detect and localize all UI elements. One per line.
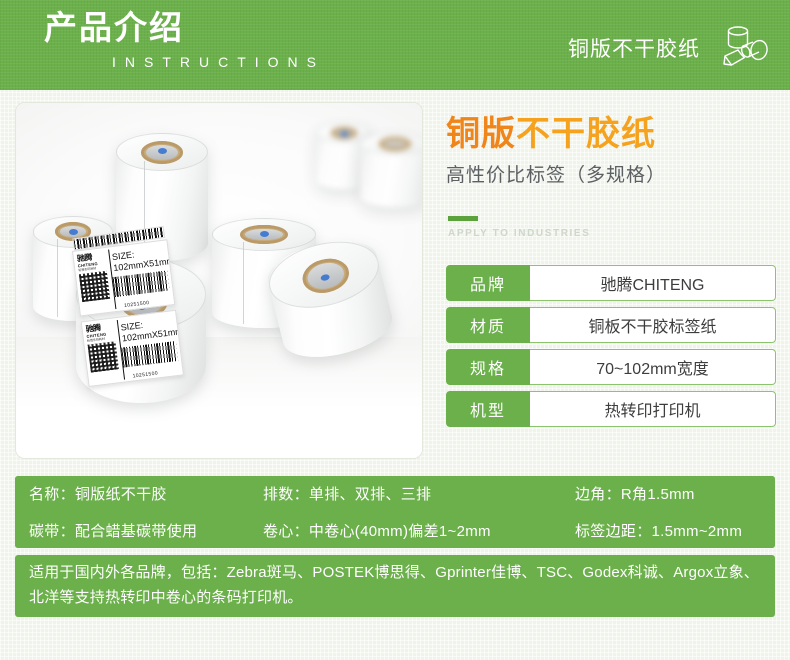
qr-code-icon — [79, 271, 110, 302]
label-sticker-strip: 驰腾 CHITENG 标签条码耗材 SIZE: 102mmX51mm 10251… — [72, 239, 185, 396]
info-cell-ribbon: 碳带：配合蜡基碳带使用 — [15, 513, 247, 548]
compatibility-note: 适用于国内外各品牌，包括：Zebra斑马、POSTEK博思得、Gprinter佳… — [15, 555, 775, 617]
spec-key: 规格 — [446, 349, 530, 385]
header-title-group: 产品介绍 INSTRUCTIONS — [44, 8, 325, 72]
spec-row: 规格 70~102mm宽度 — [446, 349, 776, 385]
barcode-icon — [113, 271, 170, 298]
label-rolls-icon — [712, 22, 772, 74]
spec-value: 驰腾CHITENG — [530, 265, 776, 301]
product-title: 铜版不干胶纸 — [446, 112, 776, 156]
spec-value: 铜板不干胶标签纸 — [530, 307, 776, 343]
header-right-group: 铜版不干胶纸 — [568, 22, 772, 74]
product-info-column: 铜版不干胶纸 高性价比标签（多规格） APPLY TO INDUSTRIES 品… — [446, 104, 776, 433]
header-product-label: 铜版不干胶纸 — [568, 33, 700, 63]
info-cell-corner: 边角：R角1.5mm — [561, 476, 775, 511]
product-subtitle: 高性价比标签（多规格） — [446, 162, 776, 190]
spec-key: 材质 — [446, 307, 530, 343]
barcode-icon — [121, 341, 178, 368]
spec-key: 品牌 — [446, 265, 530, 301]
spec-row: 材质 铜板不干胶标签纸 — [446, 307, 776, 343]
roll-back-right — [360, 133, 423, 207]
spec-key: 机型 — [446, 391, 530, 427]
page-title: 产品介绍 — [44, 8, 325, 48]
apply-to-industries-label: APPLY TO INDUSTRIES — [448, 228, 776, 239]
sticker-size: SIZE: 102mmX51mm — [120, 315, 183, 344]
product-photo: 驰腾 CHITENG 标签条码耗材 SIZE: 102mmX51mm 10251… — [16, 103, 422, 458]
product-title-part1: 铜版 — [446, 115, 516, 153]
spec-info-grid: 名称：铜版纸不干胶 排数：单排、双排、三排 边角：R角1.5mm 碳带：配合蜡基… — [15, 476, 775, 548]
info-cell-name: 名称：铜版纸不干胶 — [15, 476, 247, 511]
spec-value: 70~102mm宽度 — [530, 349, 776, 385]
page-title-english: INSTRUCTIONS — [112, 52, 325, 72]
sticker-brand-block: 驰腾 CHITENG 标签条码耗材 — [76, 251, 108, 273]
page-header: 产品介绍 INSTRUCTIONS 铜版不干胶纸 — [0, 0, 790, 90]
accent-dash — [448, 216, 478, 221]
spec-row: 机型 热转印打印机 — [446, 391, 776, 427]
product-infographic-page: 产品介绍 INSTRUCTIONS 铜版不干胶纸 — [0, 0, 790, 660]
qr-code-icon — [88, 341, 119, 372]
sticker-barcode-number: 10251500 — [124, 300, 150, 309]
info-cell-rows: 排数：单排、双排、三排 — [249, 476, 559, 511]
spec-row: 品牌 驰腾CHITENG — [446, 265, 776, 301]
sticker-barcode-number: 10251500 — [132, 370, 158, 379]
label-sticker: 驰腾 CHITENG 标签条码耗材 SIZE: 102mmX51mm 10251… — [72, 239, 175, 316]
spec-value: 热转印打印机 — [530, 391, 776, 427]
sticker-size: SIZE: 102mmX51mm — [111, 245, 174, 274]
info-cell-margin: 标签边距：1.5mm~2mm — [561, 513, 775, 548]
product-title-part2: 不干胶纸 — [516, 115, 656, 153]
spec-table: 品牌 驰腾CHITENG 材质 铜板不干胶标签纸 规格 70~102mm宽度 机… — [446, 265, 776, 427]
product-photo-card: 驰腾 CHITENG 标签条码耗材 SIZE: 102mmX51mm 10251… — [15, 102, 423, 459]
label-sticker: 驰腾 CHITENG 标签条码耗材 SIZE: 102mmX51mm 10251… — [81, 310, 184, 387]
sticker-brand-block: 驰腾 CHITENG 标签条码耗材 — [85, 321, 117, 343]
info-cell-core: 卷心：中卷心(40mm)偏差1~2mm — [249, 513, 559, 548]
